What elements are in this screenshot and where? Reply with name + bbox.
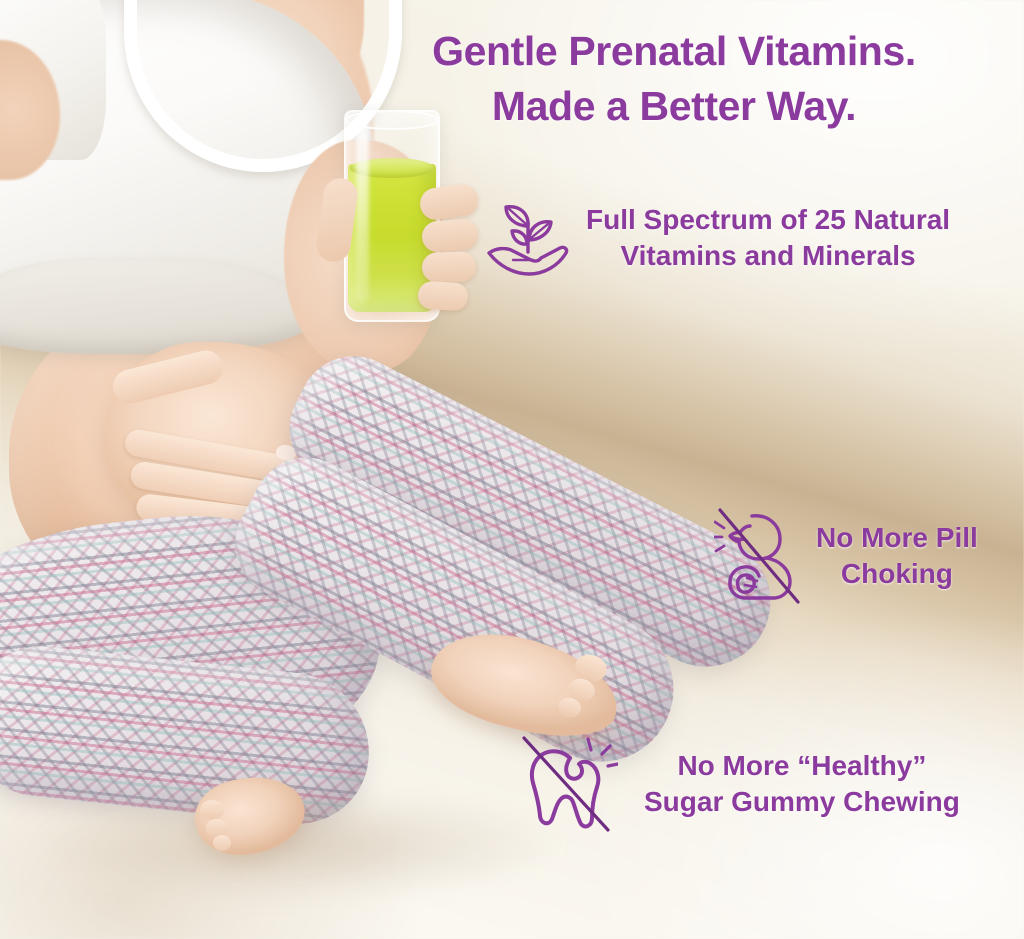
hand-holding-sprout-icon (486, 196, 570, 280)
toe (213, 835, 231, 851)
feature-3-text: No More “Healthy” Sugar Gummy Chewing (644, 748, 960, 821)
feature-full-spectrum: Full Spectrum of 25 Natural Vitamins and… (486, 196, 950, 280)
feature-3-line-2: Sugar Gummy Chewing (644, 784, 960, 820)
toe (200, 800, 224, 820)
feature-no-sugar-gummy: No More “Healthy” Sugar Gummy Chewing (518, 734, 960, 834)
page-title: Gentle Prenatal Vitamins. Made a Better … (330, 24, 1018, 134)
prenatal-vitamins-ad-banner: Gentle Prenatal Vitamins. Made a Better … (0, 0, 1024, 939)
feature-2-text: No More Pill Choking (816, 520, 978, 593)
headline-line-2: Made a Better Way. (330, 79, 1018, 134)
feature-1-line-1: Full Spectrum of 25 Natural (586, 202, 950, 238)
feature-2-line-2: Choking (816, 556, 978, 592)
feature-2-line-1: No More Pill (816, 520, 978, 556)
tooth-decay-no-icon (518, 734, 618, 834)
headline-line-1: Gentle Prenatal Vitamins. (330, 24, 1018, 79)
feature-1-line-2: Vitamins and Minerals (586, 238, 950, 274)
feature-1-text: Full Spectrum of 25 Natural Vitamins and… (586, 202, 950, 275)
person-choking-no-icon (714, 508, 804, 604)
feature-no-pill-choking: No More Pill Choking (714, 508, 978, 604)
feature-3-line-1: No More “Healthy” (644, 748, 960, 784)
